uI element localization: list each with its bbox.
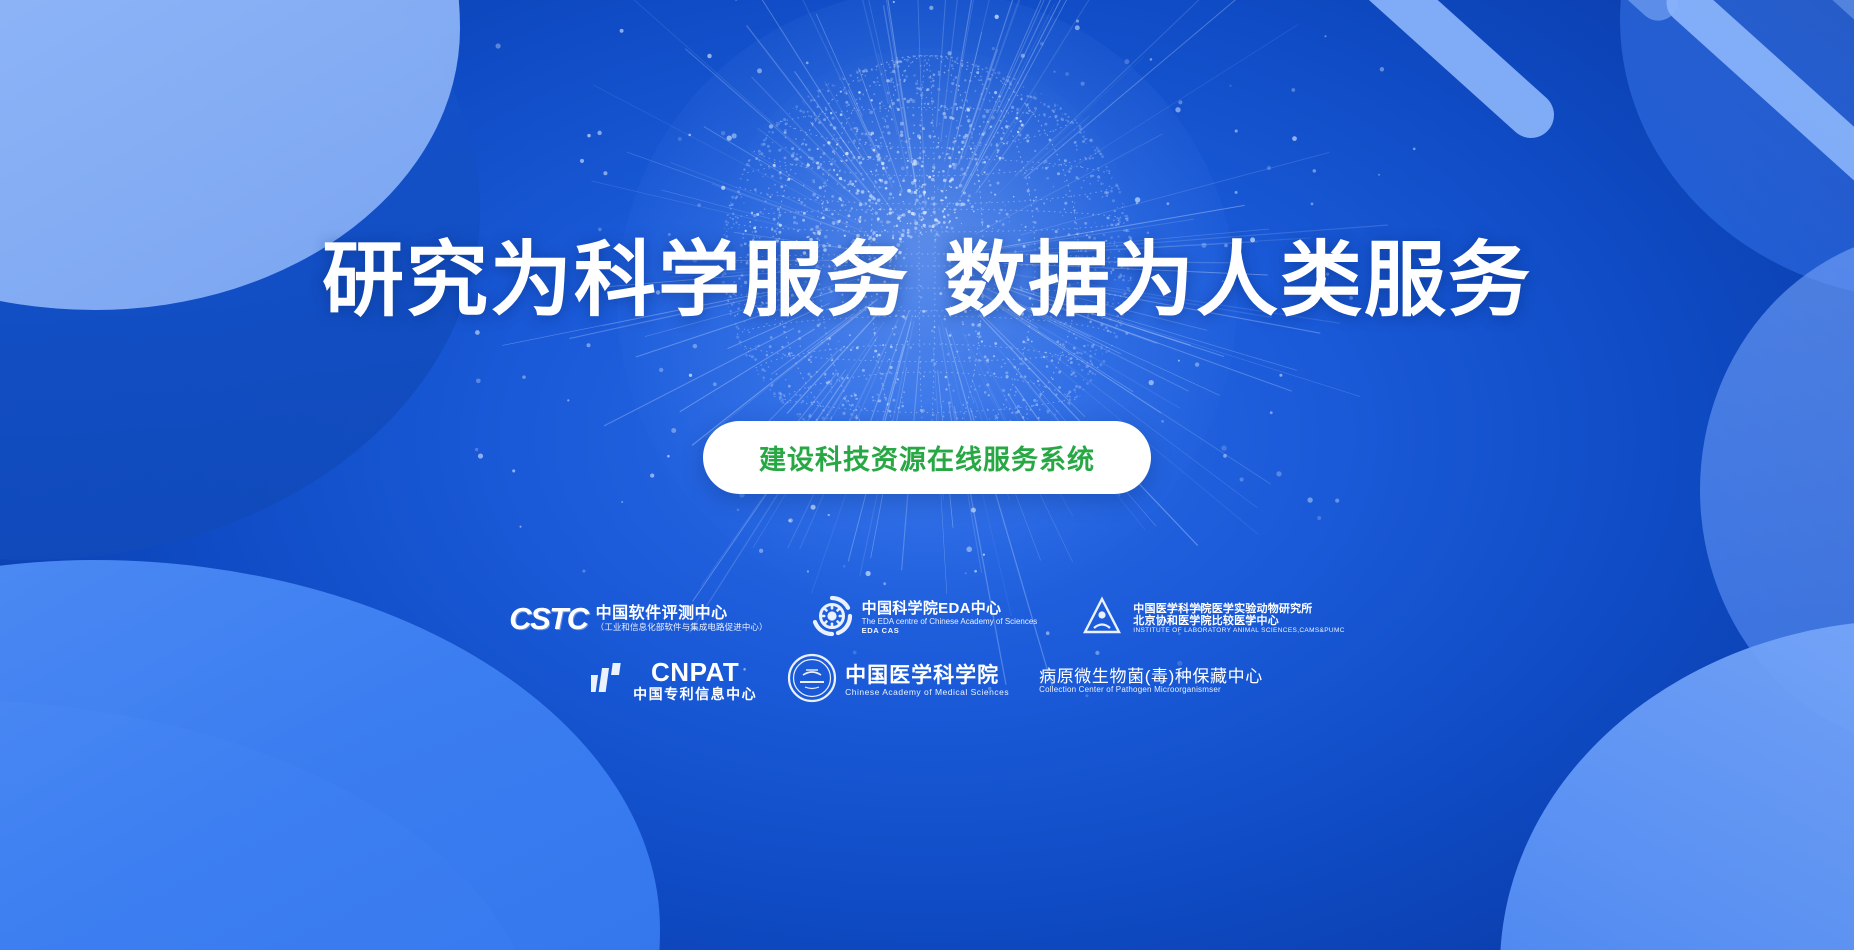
pathogen-name-en: Collection Center of Pathogen Microorgan… [1039,686,1263,695]
page-title: 研究为科学服务数据为人类服务 [322,240,1532,322]
cams-name-cn: 中国医学科学院 [845,664,1009,688]
ilas-triangle-icon [1079,595,1125,642]
partner-row-1: CSTC 中国软件评测中心 （工业和信息化部软件与集成电路促进中心） [509,594,1345,643]
cnpat-name-cn: 中国专利信息中心 [633,687,757,703]
decor-blob-bottom-left-soft [0,700,540,950]
partner-logo-cams[interactable]: 中国医学科学院 Chinese Academy of Medical Scien… [787,653,1009,708]
eda-gear-icon [810,594,854,643]
partner-logo-cnpat[interactable]: CNPAT 中国专利信息中心 [591,658,757,703]
cnpat-bars-icon [591,661,625,700]
ilas-line2: 北京协和医学院比较医学中心 [1133,615,1344,627]
cstc-name-sub: （工业和信息化部软件与集成电路促进中心） [596,623,768,633]
cams-seal-icon [787,653,837,708]
partner-logos: CSTC 中国软件评测中心 （工业和信息化部软件与集成电路促进中心） [0,594,1854,708]
eda-tag: EDA CAS [862,627,1038,635]
cstc-wordmark-icon: CSTC [509,601,587,637]
cstc-name-cn: 中国软件评测中心 [596,605,768,623]
hero-content: 研究为科学服务数据为人类服务 建设科技资源在线服务系统 [0,0,1854,494]
cnpat-wordmark: CNPAT [651,658,739,687]
cams-name-en: Chinese Academy of Medical Sciences [845,688,1009,698]
ilas-name-en: INSTITUTE OF LABORATORY ANIMAL SCIENCES,… [1133,627,1344,634]
headline-right: 数据为人类服务 [944,235,1532,326]
ilas-line1: 中国医学科学院医学实验动物研究所 [1133,603,1344,615]
pathogen-name-cn: 病原微生物菌(毒)种保藏中心 [1039,667,1263,686]
partner-logo-pathogen-center[interactable]: 病原微生物菌(毒)种保藏中心 Collection Center of Path… [1039,667,1263,695]
headline-left: 研究为科学服务 [322,235,910,326]
partner-logo-ilas[interactable]: 中国医学科学院医学实验动物研究所 北京协和医学院比较医学中心 INSTITUTE… [1079,595,1344,642]
partner-logo-cstc[interactable]: CSTC 中国软件评测中心 （工业和信息化部软件与集成电路促进中心） [509,601,767,637]
partner-row-2: CNPAT 中国专利信息中心 中国医学科学院 [591,653,1263,708]
eda-name-cn: 中国科学院EDA中心 [862,601,1038,618]
subtitle-pill[interactable]: 建设科技资源在线服务系统 [703,421,1151,494]
partner-logo-eda-cas[interactable]: 中国科学院EDA中心 The EDA centre of Chinese Aca… [810,594,1038,643]
hero-banner: 研究为科学服务数据为人类服务 建设科技资源在线服务系统 CSTC 中国软件评测中… [0,0,1854,950]
